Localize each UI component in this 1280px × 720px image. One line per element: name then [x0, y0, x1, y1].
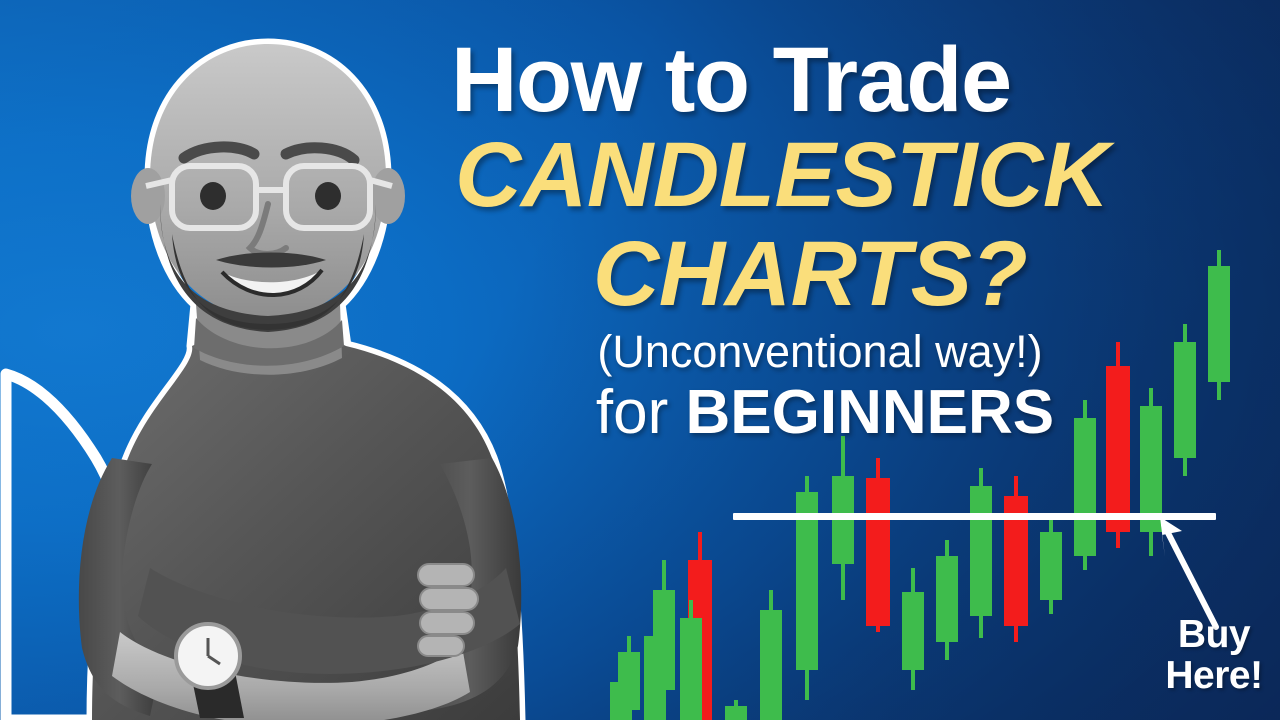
- candle-up-12: [1040, 514, 1062, 614]
- subtitle-for-beginners: for BEGINNERS: [445, 378, 1235, 447]
- candle-body: [936, 556, 958, 642]
- candle-body: [902, 592, 924, 670]
- candle-up-low2: [680, 600, 702, 720]
- buy-here-line-1: Buy: [1152, 614, 1276, 655]
- candle-up-low1: [644, 620, 666, 720]
- candle-up-3: [725, 700, 747, 720]
- candle-body: [680, 618, 702, 720]
- buy-here-label: Buy Here!: [1152, 614, 1276, 697]
- candle-down-11: [1004, 476, 1028, 642]
- candle-body: [1040, 532, 1062, 600]
- title-line-candlestick: CANDLESTICK: [445, 126, 1235, 225]
- candle-down-7: [866, 458, 890, 632]
- for-prefix: for: [596, 378, 686, 447]
- subtitle-unconventional: (Unconventional way!): [445, 325, 1235, 378]
- candle-body: [866, 478, 890, 626]
- candle-up-8: [902, 568, 924, 690]
- candle-up-4: [760, 590, 782, 720]
- buy-here-line-2: Here!: [1152, 655, 1276, 696]
- title-line-how-to-trade: How to Trade: [445, 34, 1235, 126]
- candle-up-10: [970, 468, 992, 638]
- candle-body: [970, 486, 992, 616]
- candle-body: [832, 476, 854, 564]
- candle-body: [760, 610, 782, 720]
- thumbnail-canvas: How to Trade CANDLESTICK CHARTS? (Unconv…: [0, 0, 1280, 720]
- candle-body: [644, 636, 666, 720]
- beginners-word: BEGINNERS: [685, 378, 1054, 447]
- resistance-line: [733, 513, 1216, 520]
- candle-up-9: [936, 540, 958, 660]
- candle-up-5: [796, 476, 818, 700]
- title-line-charts: CHARTS?: [445, 225, 1235, 324]
- candle-body: [725, 706, 747, 720]
- candle-body: [610, 682, 632, 720]
- headline-block: How to Trade CANDLESTICK CHARTS? (Unconv…: [445, 34, 1235, 447]
- candle-up-low0: [610, 674, 632, 720]
